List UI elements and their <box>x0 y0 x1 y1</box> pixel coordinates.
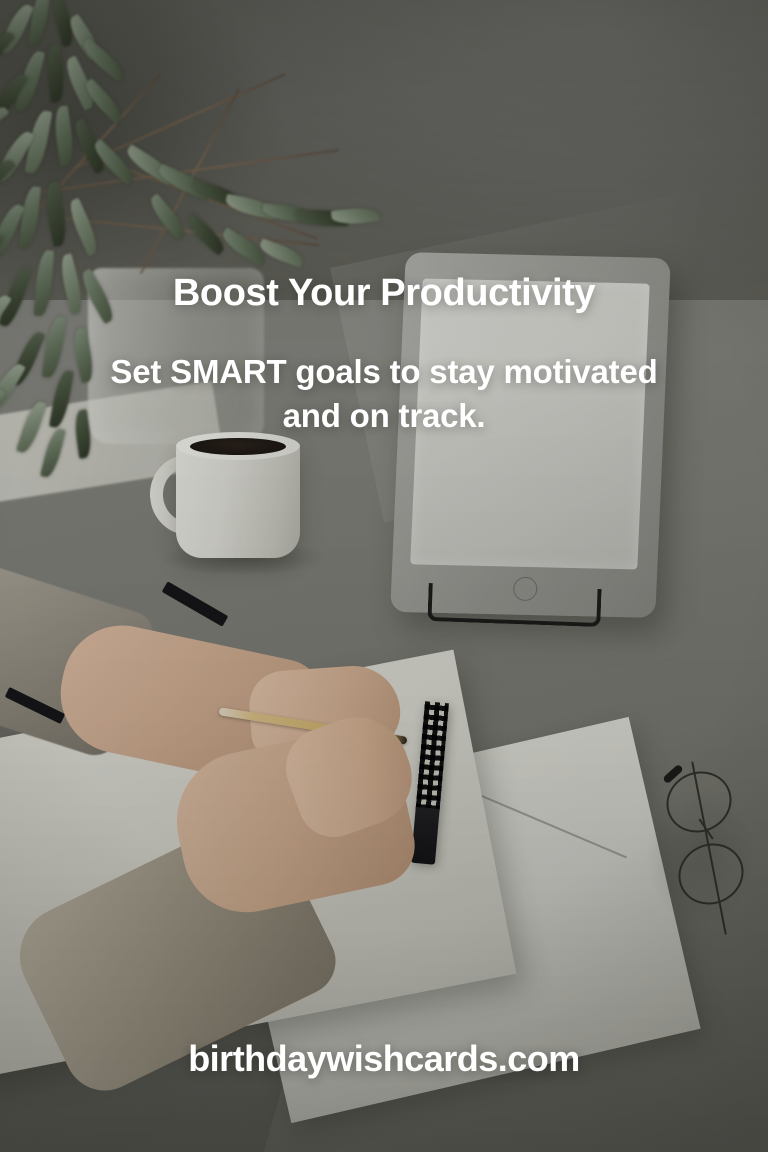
page-title: Boost Your Productivity <box>0 274 768 312</box>
text-overlay: Boost Your Productivity Set SMART goals … <box>0 0 768 1152</box>
page-subtitle: Set SMART goals to stay motivated and on… <box>110 350 658 438</box>
social-card: Boost Your Productivity Set SMART goals … <box>0 0 768 1152</box>
site-url-label: birthdaywishcards.com <box>0 1038 768 1080</box>
